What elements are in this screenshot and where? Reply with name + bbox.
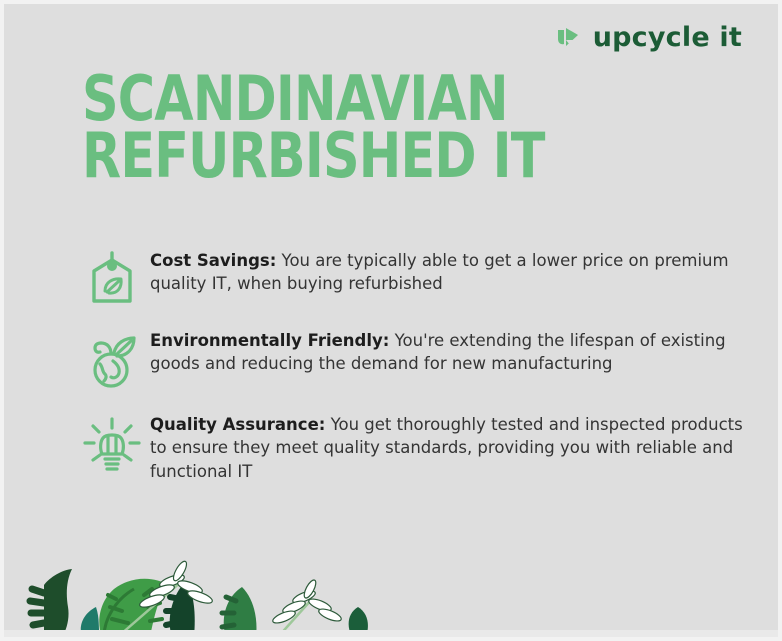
upcycle-arrow-mark-icon bbox=[553, 22, 583, 52]
tropical-leaves-decoration bbox=[4, 537, 434, 637]
poster-canvas: upcycle it SCANDINAVIAN REFURBISHED IT bbox=[0, 0, 782, 641]
price-tag-leaf-icon bbox=[74, 247, 150, 307]
benefit-title-cost-savings: Cost Savings: bbox=[150, 251, 276, 270]
benefit-text-environmentally-friendly: Environmentally Friendly: You're extendi… bbox=[150, 327, 750, 376]
benefit-item-quality-assurance: Quality Assurance: You get thoroughly te… bbox=[74, 411, 752, 483]
page-title: SCANDINAVIAN REFURBISHED IT bbox=[82, 70, 702, 184]
eco-globe-leaf-icon bbox=[74, 327, 150, 391]
bottom-strip bbox=[4, 630, 778, 637]
brand-logo: upcycle it bbox=[553, 22, 742, 52]
benefit-item-environmentally-friendly: Environmentally Friendly: You're extendi… bbox=[74, 327, 752, 391]
benefit-title-quality-assurance: Quality Assurance: bbox=[150, 415, 325, 434]
brand-logo-text: upcycle it bbox=[593, 24, 742, 51]
benefit-text-quality-assurance: Quality Assurance: You get thoroughly te… bbox=[150, 411, 750, 483]
benefits-list: Cost Savings: You are typically able to … bbox=[74, 247, 752, 503]
benefit-item-cost-savings: Cost Savings: You are typically able to … bbox=[74, 247, 752, 307]
page-title-line-2: REFURBISHED IT bbox=[82, 127, 590, 184]
benefit-title-environmentally-friendly: Environmentally Friendly: bbox=[150, 331, 389, 350]
benefit-text-cost-savings: Cost Savings: You are typically able to … bbox=[150, 247, 750, 296]
lightbulb-idea-icon bbox=[74, 411, 150, 477]
